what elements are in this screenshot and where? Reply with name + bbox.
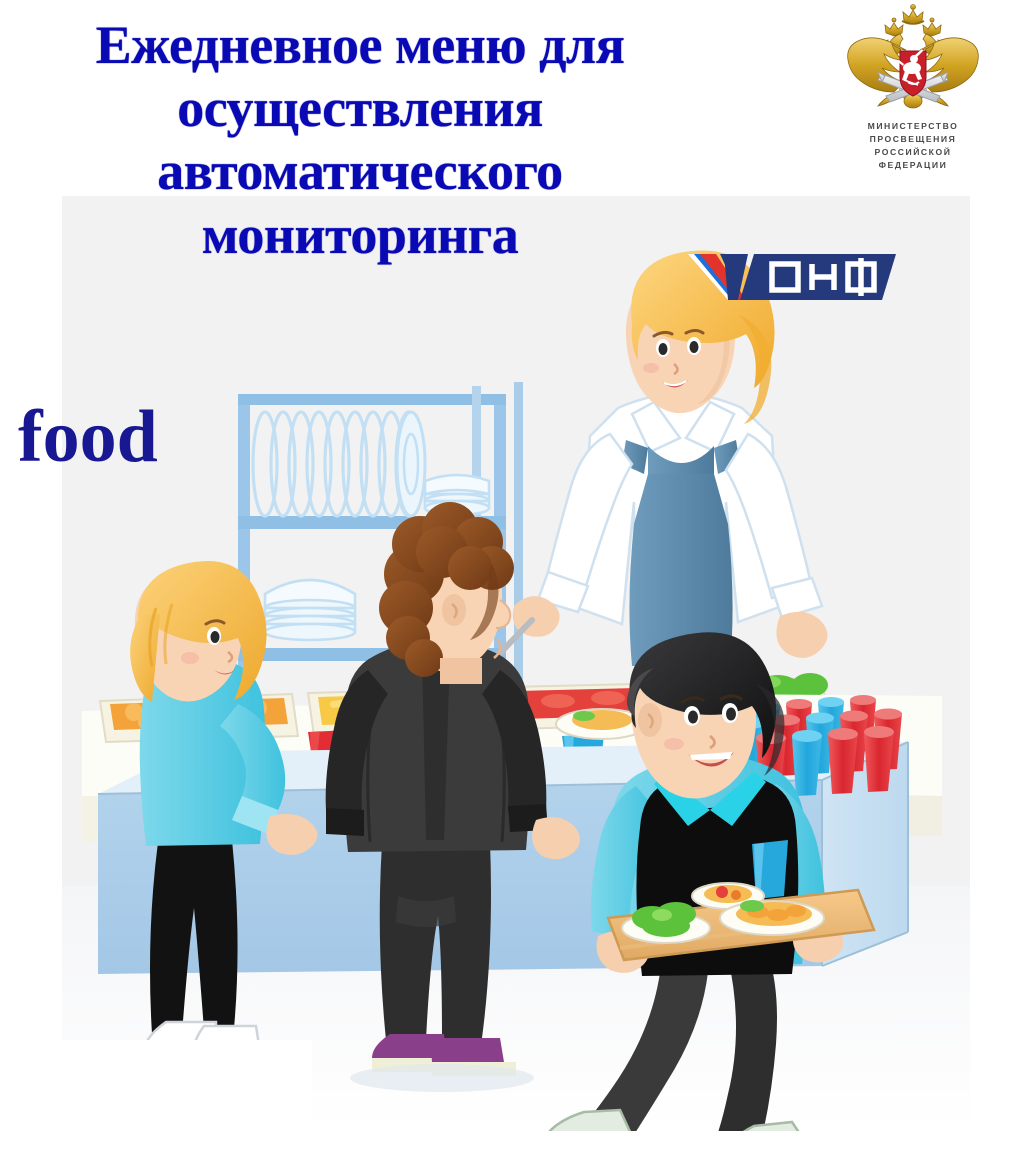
poster-root: Ежедневное меню для осуществления автома… bbox=[0, 0, 1024, 1157]
ministry-line-4: ФЕДЕРАЦИИ bbox=[838, 159, 988, 172]
onf-logo: ОНФ bbox=[686, 246, 898, 308]
ministry-line-3: РОССИЙСКОЙ bbox=[838, 146, 988, 159]
food-wordmark: food bbox=[18, 400, 158, 474]
ministry-line-2: ПРОСВЕЩЕНИЯ bbox=[838, 133, 988, 146]
ministry-logo-text: МИНИСТЕРСТВО ПРОСВЕЩЕНИЯ РОССИЙСКОЙ ФЕДЕ… bbox=[838, 120, 988, 172]
russian-eagle-icon bbox=[838, 4, 988, 116]
panel-notch-bottom-left bbox=[62, 1040, 312, 1157]
ministry-line-1: МИНИСТЕРСТВО bbox=[838, 120, 988, 133]
ministry-of-education-logo: МИНИСТЕРСТВО ПРОСВЕЩЕНИЯ РОССИЙСКОЙ ФЕДЕ… bbox=[838, 4, 988, 184]
school-canteen-illustration bbox=[62, 196, 970, 1131]
page-title: Ежедневное меню для осуществления автома… bbox=[10, 14, 710, 267]
